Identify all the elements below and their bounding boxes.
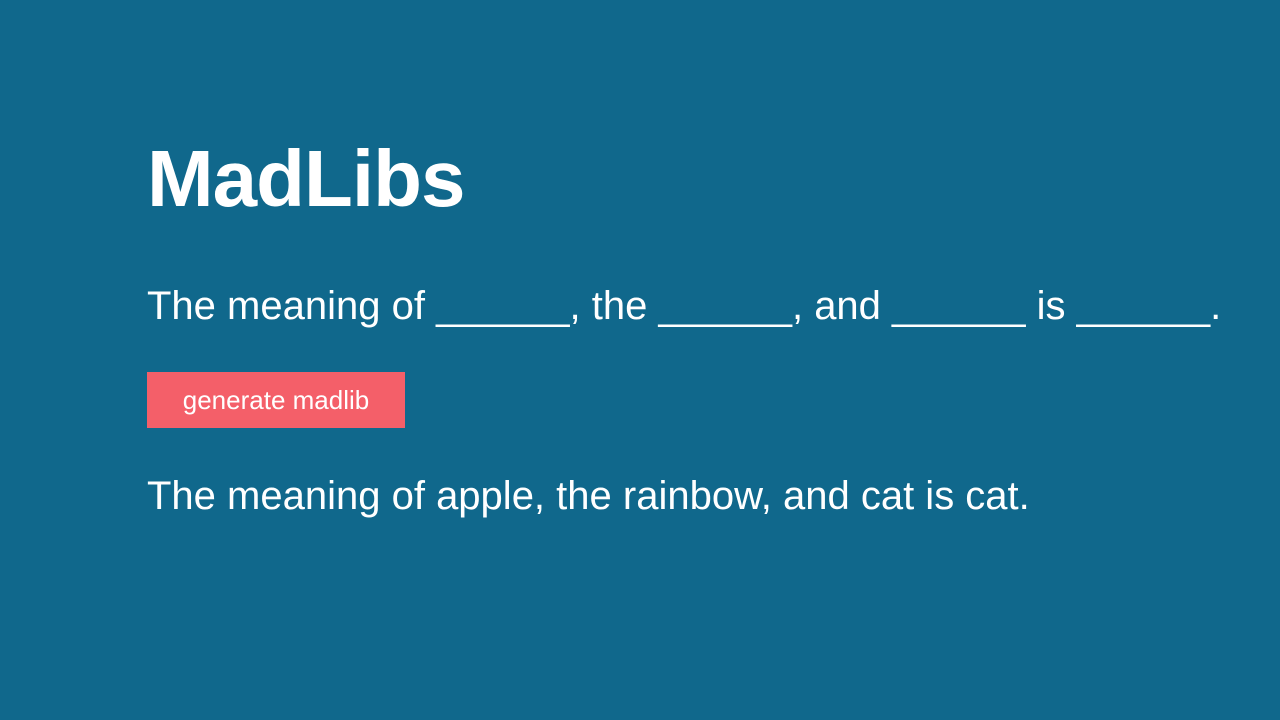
madlib-template-text: The meaning of ______, the ______, and _… [147, 282, 1221, 330]
page-title: MadLibs [147, 133, 464, 225]
madlib-page: MadLibs The meaning of ______, the _____… [0, 0, 1280, 720]
madlib-result-text: The meaning of apple, the rainbow, and c… [147, 472, 1030, 520]
generate-madlib-button[interactable]: generate madlib [147, 372, 405, 428]
